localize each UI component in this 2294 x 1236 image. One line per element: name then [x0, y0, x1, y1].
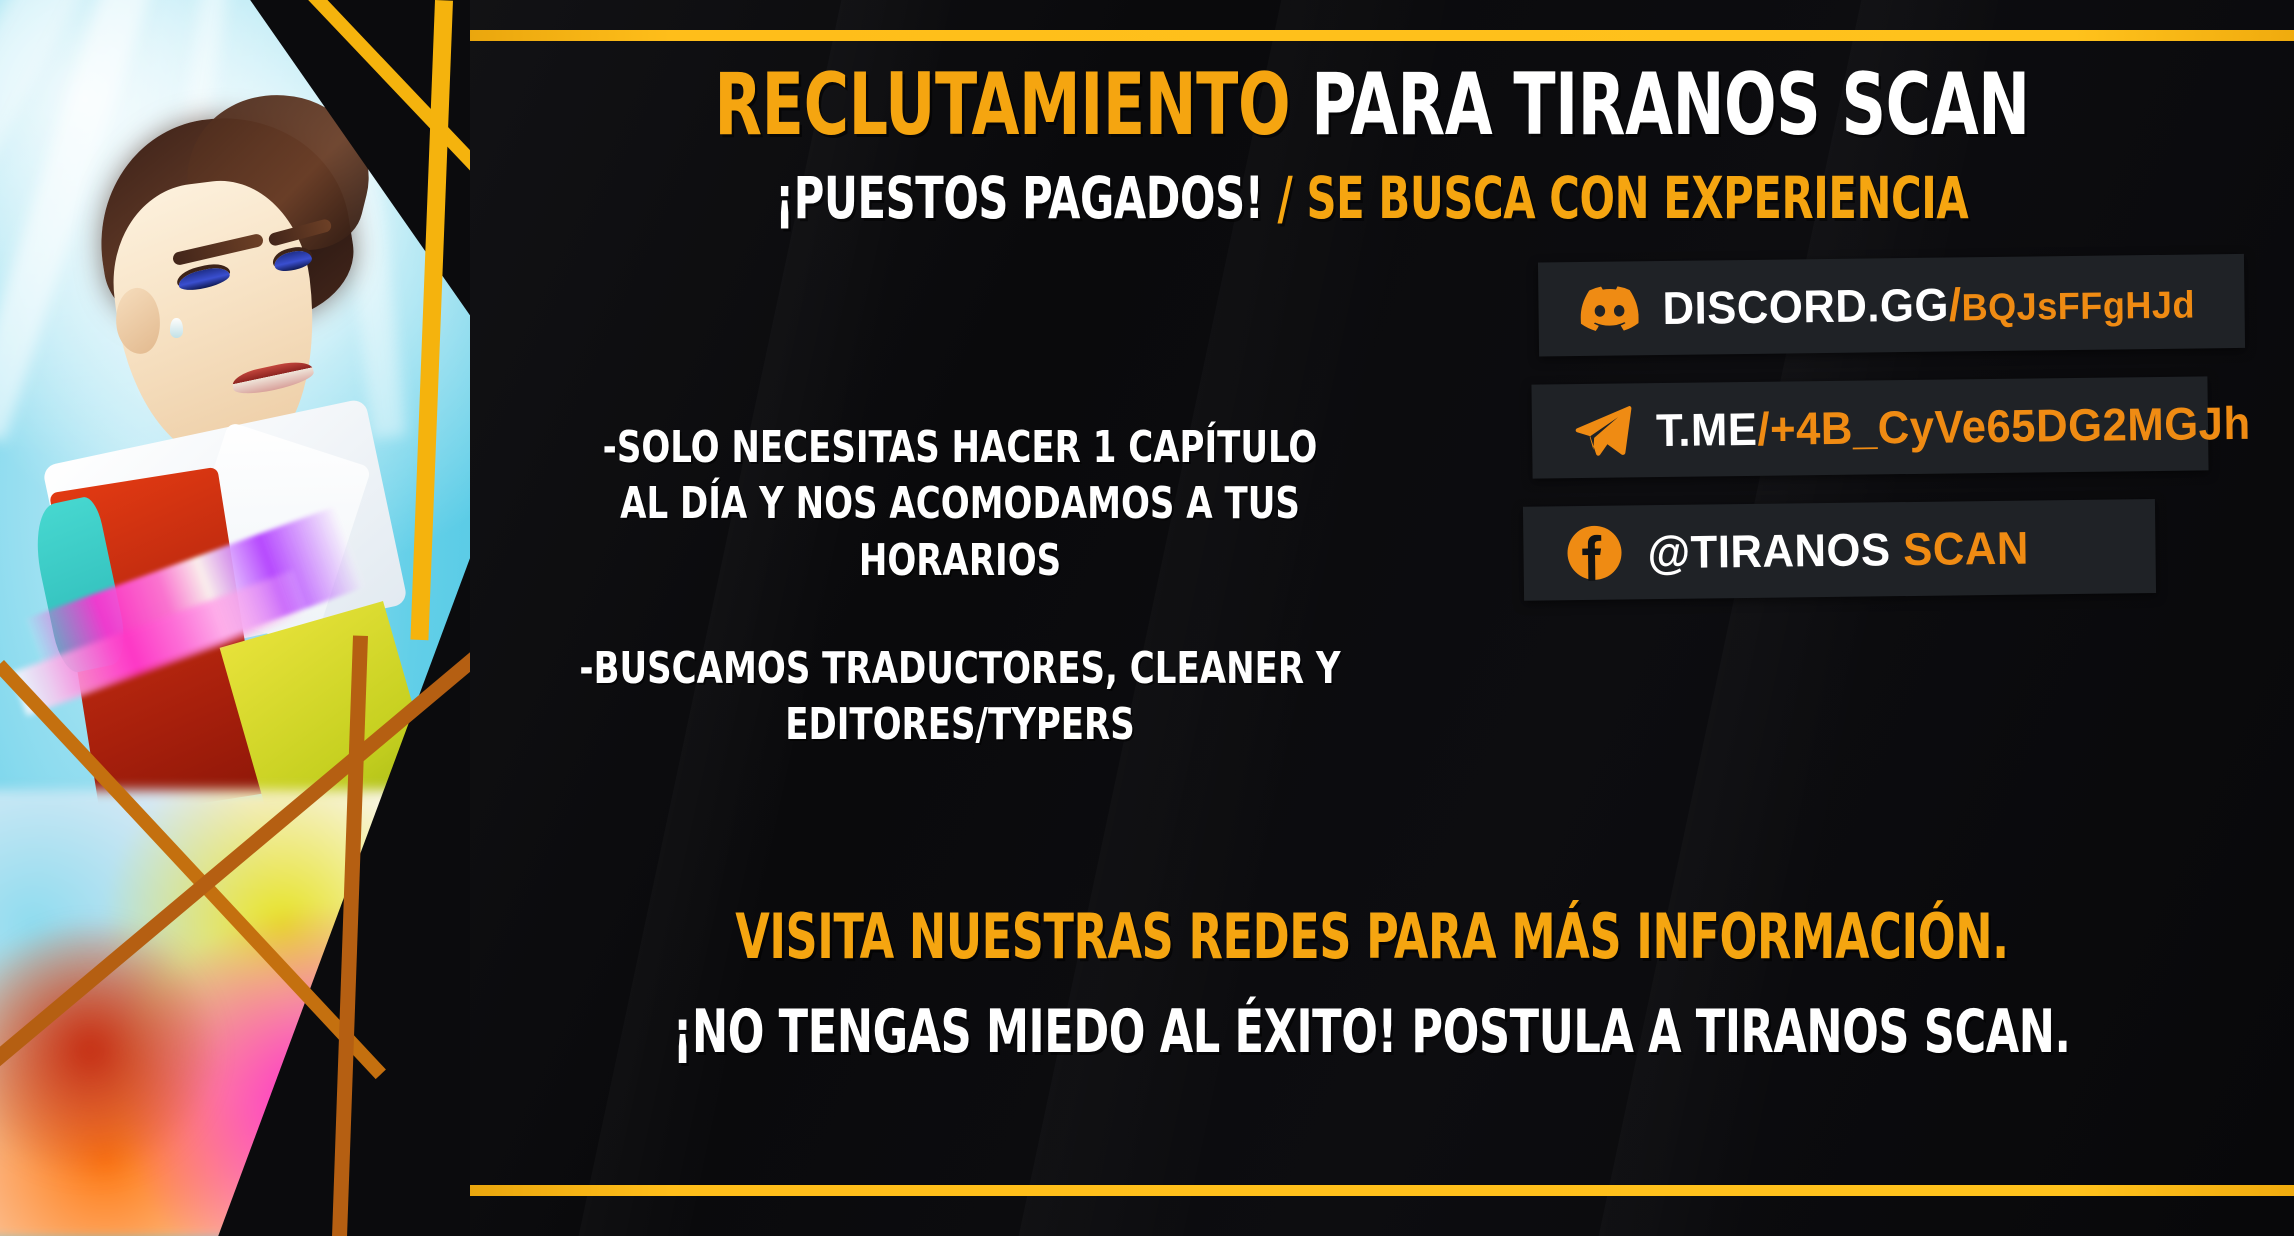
requirement-paragraph-1: -SOLO NECESITAS HACER 1 CAPÍTULO AL DÍA … — [573, 420, 1347, 589]
discord-separator: / — [1949, 278, 1962, 330]
gold-rule-top — [450, 30, 2294, 41]
cta-line-2: ¡NO TENGAS MIEDO AL ÉXITO! POSTULA A TIR… — [673, 997, 2071, 1067]
telegram-domain: T.ME — [1656, 403, 1758, 456]
call-to-action-block: VISITA NUESTRAS REDES PARA MÁS INFORMACI… — [450, 900, 2294, 1067]
title-rest: PARA TIRANOS SCAN — [1290, 55, 2029, 155]
discord-icon — [1580, 279, 1639, 338]
discord-link-text: DISCORD.GG/BQJsFFgHJd — [1662, 275, 2195, 336]
facebook-handle-suffix: SCAN — [1903, 522, 2029, 576]
discord-domain: DISCORD.GG — [1662, 279, 1949, 334]
page-title: RECLUTAMIENTO PARA TIRANOS SCAN — [450, 62, 2294, 150]
contact-link-facebook[interactable]: @TIRANOS SCAN — [1523, 499, 2156, 601]
artwork-panel: MANHWA CHARACTER ILLUSTRATION — [0, 0, 470, 1236]
telegram-separator: / — [1757, 403, 1770, 455]
page-subtitle: ¡PUESTOS PAGADOS! / SE BUSCA CON EXPERIE… — [450, 168, 2294, 229]
contact-links-list: DISCORD.GG/BQJsFFgHJd T.ME/+4B_CyVe65DG2… — [1538, 253, 2282, 600]
contact-link-discord[interactable]: DISCORD.GG/BQJsFFgHJd — [1538, 254, 2245, 357]
requirement-paragraph-2: -BUSCAMOS TRADUCTORES, CLEANER Y EDITORE… — [573, 641, 1347, 754]
character-sweat-drop — [170, 318, 183, 338]
facebook-separator — [1890, 523, 1903, 575]
subtitle-experience: / SE BUSCA CON EXPERIENCIA — [1264, 164, 1969, 232]
cta-line-1: VISITA NUESTRAS REDES PARA MÁS INFORMACI… — [735, 900, 2009, 973]
gold-rule-bottom — [450, 1185, 2294, 1196]
contact-link-telegram[interactable]: T.ME/+4B_CyVe65DG2MGJh — [1531, 376, 2208, 478]
title-highlight: RECLUTAMIENTO — [714, 55, 1290, 155]
facebook-icon — [1565, 524, 1624, 583]
telegram-invite-code: +4B_CyVe65DG2MGJh — [1770, 397, 2251, 455]
requirements-text-block: -SOLO NECESITAS HACER 1 CAPÍTULO AL DÍA … — [510, 420, 1410, 754]
telegram-icon — [1574, 401, 1633, 460]
subtitle-paid-positions: ¡PUESTOS PAGADOS! — [775, 164, 1263, 232]
recruitment-banner: MANHWA CHARACTER ILLUSTRATION RECLUTAMIE… — [0, 0, 2294, 1236]
facebook-handle-prefix: @TIRANOS — [1647, 523, 1891, 578]
telegram-link-text: T.ME/+4B_CyVe65DG2MGJh — [1656, 396, 2251, 457]
discord-invite-code: BQJsFFgHJd — [1961, 285, 2195, 330]
facebook-link-text: @TIRANOS SCAN — [1647, 521, 2029, 580]
content-panel: RECLUTAMIENTO PARA TIRANOS SCAN ¡PUESTOS… — [450, 0, 2294, 1236]
